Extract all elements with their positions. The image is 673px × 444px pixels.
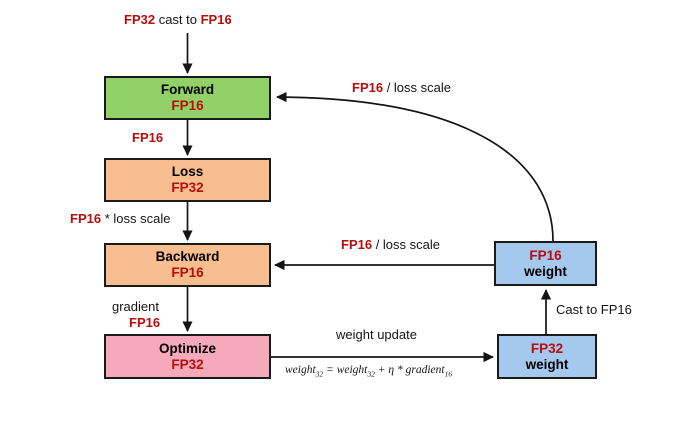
node-backward-title: Backward: [156, 249, 220, 265]
label-weight-update-formula: weight32 = weight32 + η * gradient16: [285, 364, 452, 378]
node-loss-title: Loss: [172, 164, 204, 180]
node-optimize[interactable]: Optimize FP32: [104, 334, 271, 379]
label-loss-to-backward: FP16 * loss scale: [70, 212, 170, 227]
node-fp32-weight-title: weight: [526, 357, 569, 373]
formula-plus: +: [375, 364, 389, 376]
node-fp16-weight-precision: FP16: [529, 248, 561, 264]
node-forward[interactable]: Forward FP16: [104, 76, 271, 120]
label-forward-to-loss: FP16: [132, 131, 163, 146]
diagram-canvas: Forward FP16 Loss FP32 Backward FP16 Opt…: [0, 0, 673, 444]
edge-fp16weight-to-forward-curve: [277, 97, 553, 241]
node-backward-precision: FP16: [171, 265, 203, 281]
node-fp16-weight-title: weight: [524, 264, 567, 280]
label-input-cast-text: cast to: [155, 12, 201, 27]
node-optimize-title: Optimize: [159, 341, 216, 357]
label-input-cast: FP32 cast to FP16: [124, 13, 232, 28]
node-loss-precision: FP32: [171, 180, 203, 196]
label-loss-scale-backward: FP16 / loss scale: [341, 238, 440, 253]
node-fp16-weight[interactable]: FP16 weight: [494, 241, 597, 286]
formula-times: *: [394, 364, 406, 376]
label-loss-scale-forward-fp16: FP16: [352, 80, 383, 95]
node-fp32-weight-precision: FP32: [531, 341, 563, 357]
node-forward-title: Forward: [161, 82, 214, 98]
label-loss-scale-backward-text: / loss scale: [372, 237, 440, 252]
node-fp32-weight[interactable]: FP32 weight: [497, 334, 597, 379]
label-gradient-word: gradient: [112, 300, 159, 315]
formula-eq: =: [323, 364, 337, 376]
formula-rhs1: weight: [337, 364, 368, 376]
label-loss-scale-backward-fp16: FP16: [341, 237, 372, 252]
label-input-cast-fp16: FP16: [201, 12, 232, 27]
node-optimize-precision: FP32: [171, 357, 203, 373]
label-gradient-fp16: FP16: [129, 315, 160, 330]
node-backward[interactable]: Backward FP16: [104, 243, 271, 287]
formula-rhs1-sub: 32: [367, 369, 375, 378]
label-loss-scale-forward-text: / loss scale: [383, 80, 451, 95]
formula-lhs: weight: [285, 364, 316, 376]
node-loss[interactable]: Loss FP32: [104, 158, 271, 202]
label-loss-to-backward-fp16: FP16: [70, 211, 101, 226]
label-loss-to-backward-text: * loss scale: [101, 211, 170, 226]
label-forward-to-loss-fp16: FP16: [132, 130, 163, 145]
formula-rhs2-sub: 16: [445, 369, 453, 378]
label-loss-scale-forward: FP16 / loss scale: [352, 81, 451, 96]
formula-rhs2: gradient: [406, 364, 445, 376]
label-input-cast-fp32: FP32: [124, 12, 155, 27]
label-gradient-precision: FP16: [129, 316, 160, 331]
node-forward-precision: FP16: [171, 98, 203, 114]
label-weight-update: weight update: [336, 328, 417, 343]
label-cast-to-fp16: Cast to FP16: [556, 303, 632, 318]
